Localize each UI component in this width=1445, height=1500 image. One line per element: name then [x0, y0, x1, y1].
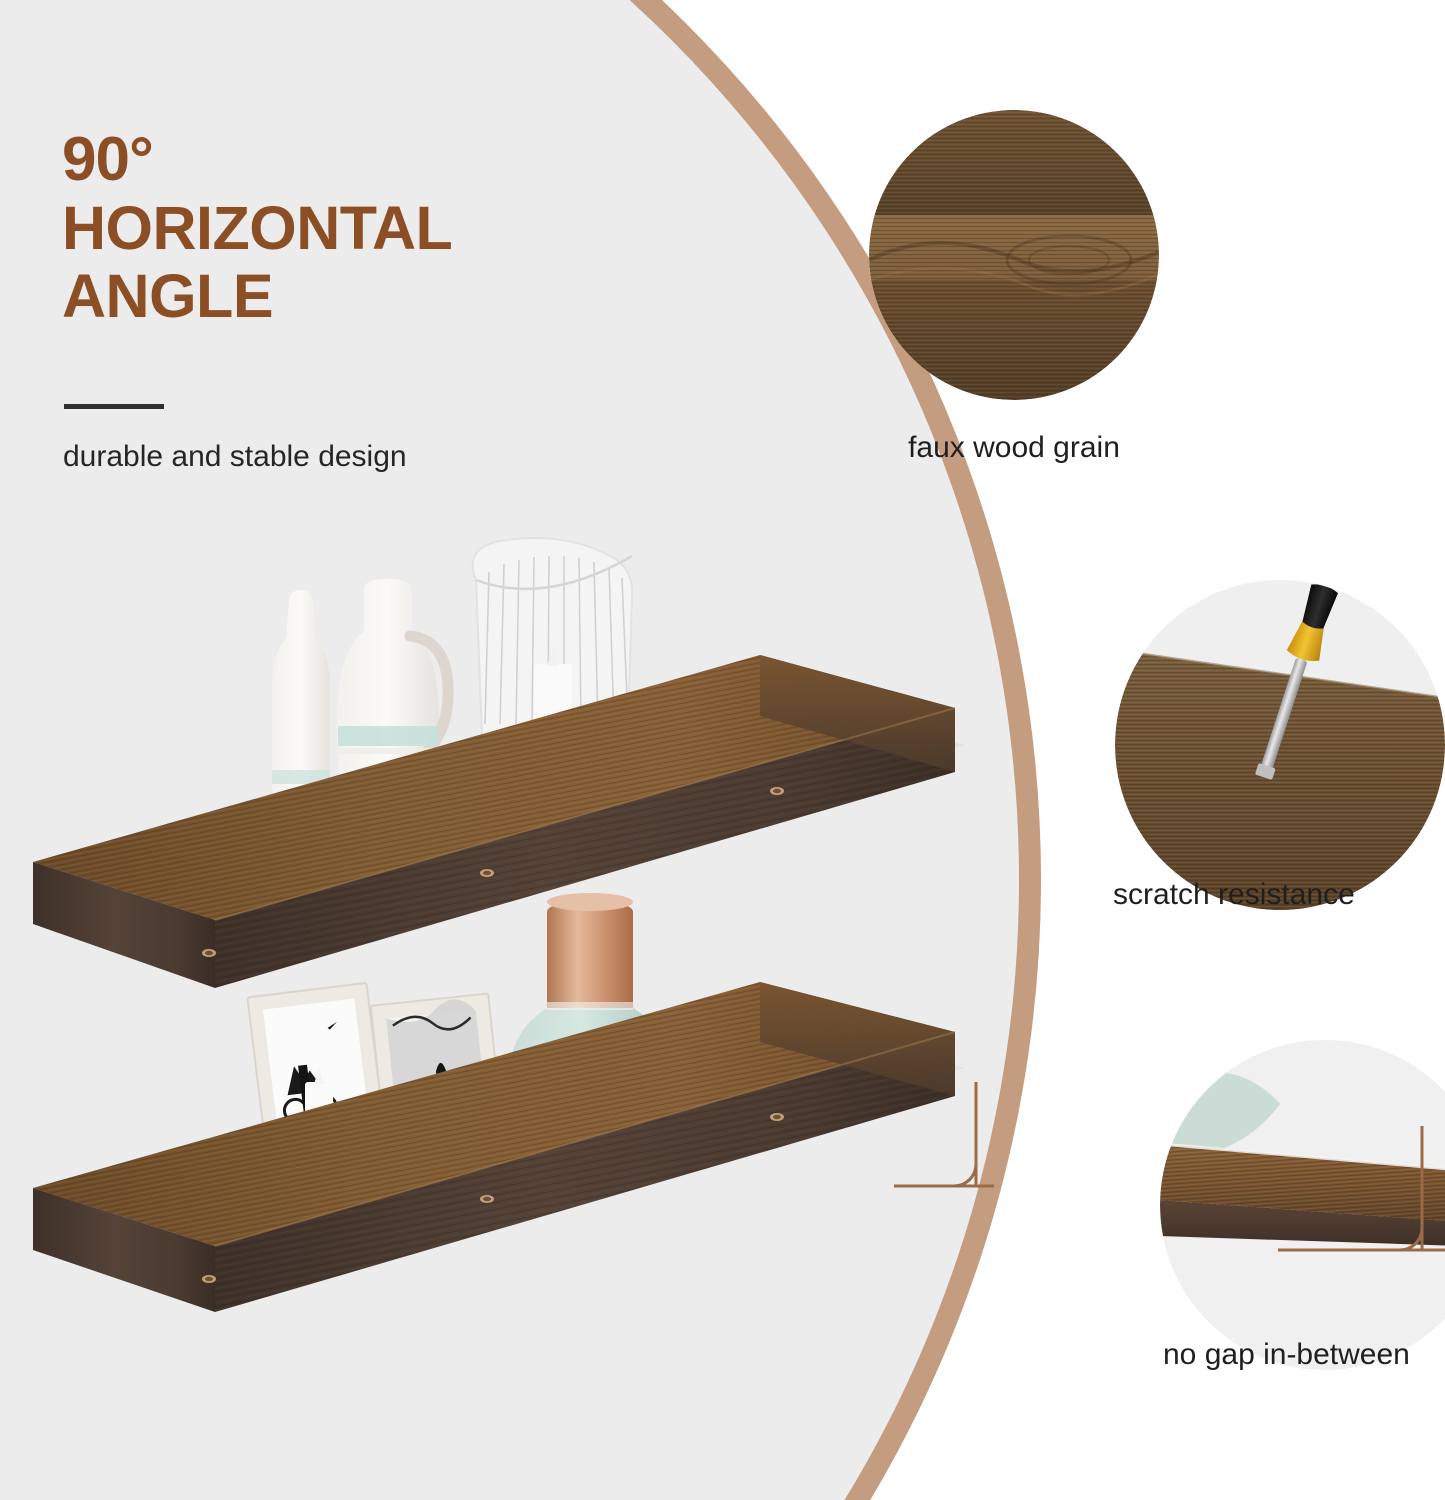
feature-caption: scratch resistance	[1113, 878, 1355, 912]
screwdriver-icon	[1115, 580, 1445, 910]
feature-no-gap	[1160, 1040, 1445, 1370]
feature-scratch-resistance	[1115, 580, 1445, 910]
feature-caption: no gap in-between	[1163, 1338, 1410, 1372]
wood-grain-swatch-icon	[869, 110, 1159, 400]
product-photo-shelves	[0, 0, 1010, 1500]
shelf-upper	[30, 538, 965, 988]
feature-caption: faux wood grain	[869, 428, 1159, 468]
infographic-canvas: 90° HORIZONTAL ANGLE durable and stable …	[0, 0, 1445, 1500]
shelf-edge-flush-icon	[1160, 1040, 1445, 1370]
right-angle-marker-main	[890, 1078, 1000, 1203]
feature-faux-wood-grain: faux wood grain	[869, 110, 1159, 468]
